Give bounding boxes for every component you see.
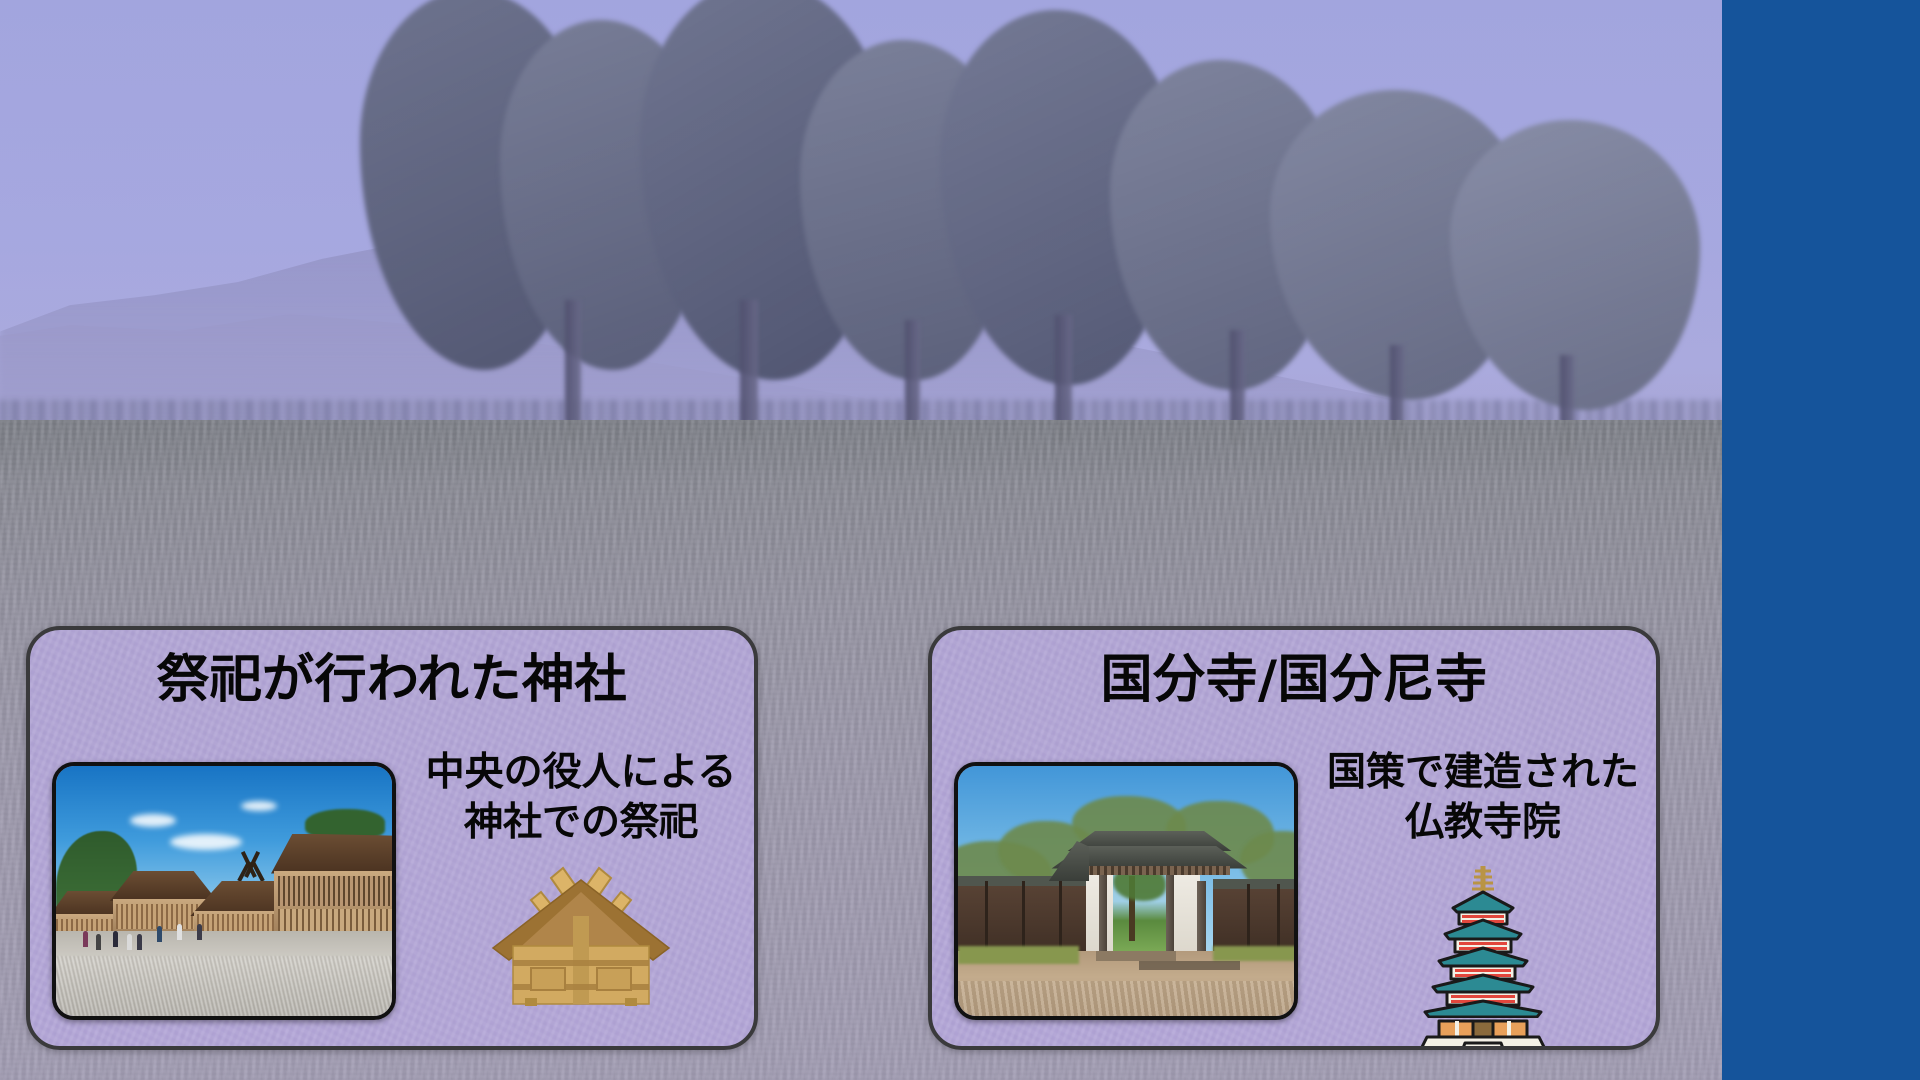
card-shrine-title: 祭祀が行われた神社 [30, 652, 754, 709]
card-shrine-photo [52, 762, 396, 1020]
card-kokubunji-right-column: 国策で建造された 仏教寺院 [1314, 748, 1652, 1050]
five-story-pagoda-icon [1413, 862, 1553, 1050]
card-kokubunji[interactable]: 国分寺/国分尼寺 [928, 626, 1660, 1050]
card-kokubunji-title: 国分寺/国分尼寺 [932, 652, 1656, 709]
card-kokubunji-description: 国策で建造された 仏教寺院 [1327, 748, 1639, 848]
shrine-building-icon [491, 856, 671, 1011]
card-shrine[interactable]: 祭祀が行われた神社 [26, 626, 758, 1050]
right-blue-panel [1722, 0, 1920, 1080]
card-kokubunji-photo [954, 762, 1298, 1020]
temple-gate-photo-illustration [958, 766, 1294, 1016]
card-shrine-description: 中央の役人による 神社での祭祀 [426, 748, 737, 848]
slide-canvas: 祭祀が行われた神社 [0, 0, 1920, 1080]
card-shrine-right-column: 中央の役人による 神社での祭祀 [412, 748, 750, 1011]
shrine-photo-illustration [56, 766, 392, 1016]
